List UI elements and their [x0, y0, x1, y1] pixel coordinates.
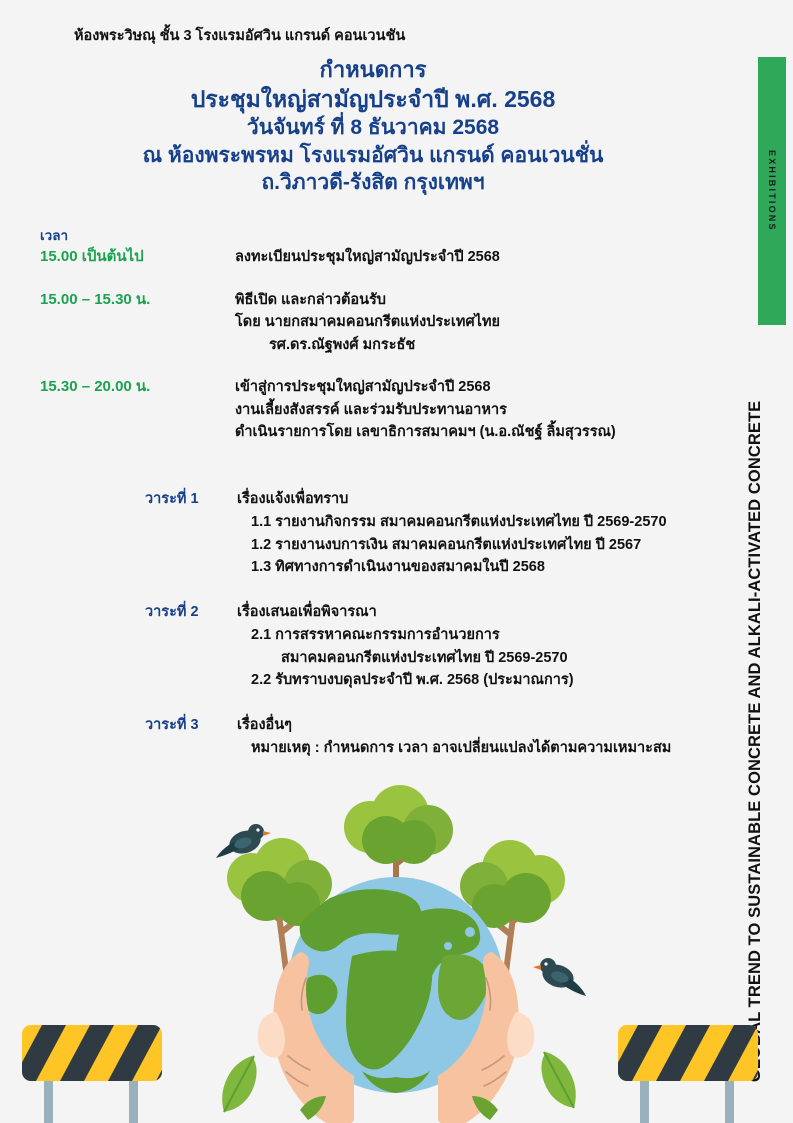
schedule-line: รศ.ดร.ณัฐพงศ์ มกระธัช: [235, 334, 740, 356]
schedule-line: เข้าสู่การประชุมใหญ่สามัญประจำปี 2568: [235, 376, 740, 398]
schedule-line: งานเลี้ยงสังสรรค์ และร่วมรับประทานอาหาร: [235, 399, 740, 421]
agenda-list: วาระที่ 1 เรื่องแจ้งเพื่อทราบ 1.1 รายงาน…: [40, 488, 740, 760]
illustration-hands-holding-earth: [0, 780, 793, 1123]
schedule-description: ลงทะเบียนประชุมใหญ่สามัญประจำปี 2568: [235, 246, 740, 268]
schedule-row: 15.00 เป็นต้นไป ลงทะเบียนประชุมใหญ่สามัญ…: [40, 246, 740, 268]
leaf-left-icon: [222, 1056, 256, 1112]
agenda-sub-item: 2.1 การสรรหาคณะกรรมการอำนวยการ: [237, 624, 740, 647]
schedule-line: โดย นายกสมาคมคอนกรีตแห่งประเทศไทย: [235, 311, 740, 333]
agenda-body: เรื่องอื่นๆ หมายเหตุ : กำหนดการ เวลา อาจ…: [237, 714, 740, 760]
schedule-time-header: เวลา: [40, 228, 740, 244]
title-line-2: ประชุมใหญ่สามัญประจำปี พ.ศ. 2568: [0, 85, 746, 115]
schedule-line: ลงทะเบียนประชุมใหญ่สามัญประจำปี 2568: [235, 246, 740, 268]
title-line-5: ถ.วิภาวดี-รังสิต กรุงเทพฯ: [0, 169, 746, 196]
poster-canvas: ห้องพระวิษณุ ชั้น 3 โรงแรมอัศวิน แกรนด์ …: [0, 0, 793, 1123]
agenda-heading: เรื่องอื่นๆ: [237, 714, 740, 737]
schedule-line: พิธีเปิด และกล่าวต้อนรับ: [235, 289, 740, 311]
schedule-description: เข้าสู่การประชุมใหญ่สามัญประจำปี 2568 งา…: [235, 376, 740, 443]
agenda-note: หมายเหตุ : กำหนดการ เวลา อาจเปลี่ยนแปลงไ…: [237, 737, 740, 760]
leaf-right-icon: [541, 1052, 575, 1108]
exhibitions-label: EXHIBITIONS: [758, 57, 786, 325]
agenda-body: เรื่องแจ้งเพื่อทราบ 1.1 รายงานกิจกรรม สม…: [237, 488, 740, 579]
schedule-line: ดำเนินรายการโดย เลขาธิการสมาคมฯ (น.อ.ณัช…: [235, 421, 740, 443]
agenda-item-1: วาระที่ 1 เรื่องแจ้งเพื่อทราบ 1.1 รายงาน…: [40, 488, 740, 579]
agenda-sub-item: สมาคมคอนกรีตแห่งประเทศไทย ปี 2569-2570: [237, 647, 740, 670]
agenda-item-2: วาระที่ 2 เรื่องเสนอเพื่อพิจารณา 2.1 การ…: [40, 601, 740, 692]
schedule-row: 15.30 – 20.00 น. เข้าสู่การประชุมใหญ่สาม…: [40, 376, 740, 443]
agenda-sub-item: 2.2 รับทราบงบดุลประจำปี พ.ศ. 2568 (ประมา…: [237, 669, 740, 692]
agenda-label: วาระที่ 2: [40, 601, 237, 623]
barricade-left-icon: [12, 1025, 210, 1123]
agenda-heading: เรื่องเสนอเพื่อพิจารณา: [237, 601, 740, 624]
agenda-label: วาระที่ 3: [40, 714, 237, 736]
venue-line: ห้องพระวิษณุ ชั้น 3 โรงแรมอัศวิน แกรนด์ …: [74, 24, 405, 47]
agenda-label: วาระที่ 1: [40, 488, 237, 510]
agenda-sub-item: 1.1 รายงานกิจกรรม สมาคมคอนกรีตแห่งประเทศ…: [237, 511, 740, 534]
bird-right-icon: [533, 958, 586, 996]
agenda-sub-item: 1.2 รายงานงบการเงิน สมาคมคอนกรีตแห่งประเ…: [237, 534, 740, 557]
agenda-item-3: วาระที่ 3 เรื่องอื่นๆ หมายเหตุ : กำหนดกา…: [40, 714, 740, 760]
agenda-body: เรื่องเสนอเพื่อพิจารณา 2.1 การสรรหาคณะกร…: [237, 601, 740, 692]
agenda-heading: เรื่องแจ้งเพื่อทราบ: [237, 488, 740, 511]
title-line-4: ณ ห้องพระพรหม โรงแรมอัศวิน แกรนด์ คอนเวน…: [0, 142, 746, 169]
schedule-table: เวลา 15.00 เป็นต้นไป ลงทะเบียนประชุมใหญ่…: [40, 228, 740, 443]
agenda-sub-item: 1.3 ทิศทางการดำเนินงานของสมาคมในปี 2568: [237, 556, 740, 579]
title-line-3: วันจันทร์ ที่ 8 ธันวาคม 2568: [0, 114, 746, 141]
schedule-time: 15.00 เป็นต้นไป: [40, 246, 235, 268]
barricade-right-icon: [608, 1025, 793, 1123]
schedule-row: 15.00 – 15.30 น. พิธีเปิด และกล่าวต้อนรั…: [40, 289, 740, 356]
page-title: กำหนดการ ประชุมใหญ่สามัญประจำปี พ.ศ. 256…: [0, 56, 746, 196]
schedule-description: พิธีเปิด และกล่าวต้อนรับ โดย นายกสมาคมคอ…: [235, 289, 740, 356]
schedule-time: 15.30 – 20.00 น.: [40, 376, 235, 398]
title-line-1: กำหนดการ: [0, 56, 746, 85]
schedule-time: 15.00 – 15.30 น.: [40, 289, 235, 311]
